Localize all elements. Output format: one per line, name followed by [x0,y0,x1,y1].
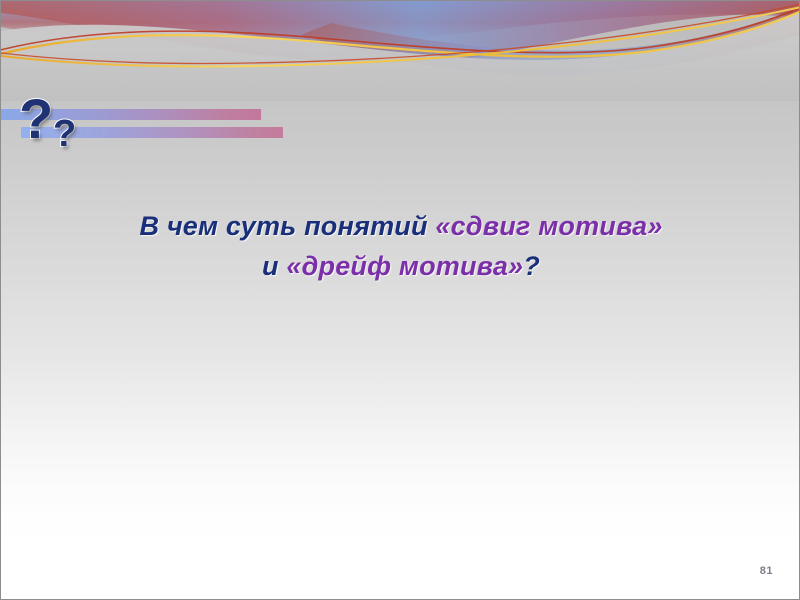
wave-line-gold-lower [1,6,800,67]
wave-band-primary [1,1,800,63]
question-mark-large-icon: ? [19,91,53,147]
title-line-2-term: «дрейф мотива» [286,251,523,281]
slide-title: В чем суть понятий «сдвиг мотива» и «дре… [41,206,761,286]
title-line-1-lead: В чем суть понятий [139,211,435,241]
wave-band-top [1,1,800,49]
wave-line-red-lower [1,3,800,64]
wave-banner-svg [1,1,800,101]
title-line-2: и «дрейф мотива»? [41,246,761,286]
page-number: 81 [760,565,773,577]
wave-line-gold [1,9,800,57]
wave-band-gray [1,11,800,101]
title-line-2-question-mark: ? [523,251,540,281]
presentation-slide: ? ? В чем суть понятий «сдвиг мотива» и … [0,0,800,600]
wave-line-red [1,5,800,53]
wave-band-secondary [301,7,800,75]
title-line-2-lead: и [262,251,286,281]
question-mark-cluster: ? ? [17,91,97,171]
wave-banner-decoration [1,1,800,101]
title-line-1: В чем суть понятий «сдвиг мотива» [41,206,761,246]
question-mark-small-icon: ? [53,115,76,153]
title-line-1-term: «сдвиг мотива» [435,211,662,241]
